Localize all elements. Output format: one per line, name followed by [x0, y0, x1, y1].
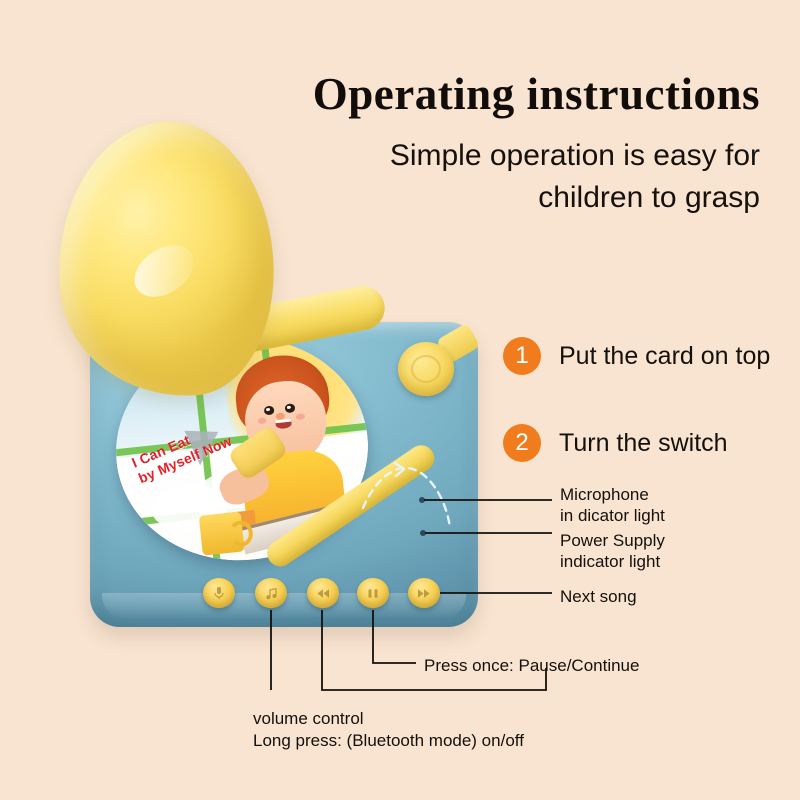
callout-next-song-line1: Next song	[560, 586, 637, 607]
page-subtitle-line1: Simple operation is easy for	[390, 139, 760, 172]
next-song-button[interactable]	[408, 578, 440, 608]
callout-volume-line2: Long press: (Bluetooth mode) on/off	[253, 730, 524, 752]
page-subtitle-line2: children to grasp	[0, 177, 760, 219]
tonearm-pivot-knob[interactable]	[398, 342, 454, 396]
callout-microphone: Microphone in dicator light	[560, 484, 665, 526]
previous-song-button[interactable]	[307, 578, 339, 608]
page-subtitle: Simple operation is easy for children to…	[0, 135, 760, 219]
music-note-icon	[265, 587, 278, 600]
callout-power-line2: indicator light	[560, 551, 665, 572]
step-1-label: Put the card on top	[559, 342, 770, 371]
step-2: 2 Turn the switch	[503, 424, 728, 462]
callout-volume-line1: volume control	[253, 708, 524, 730]
callout-pause: Press once: Pause/Continue	[424, 655, 639, 676]
mode-button[interactable]	[255, 578, 287, 608]
card-cup	[198, 512, 244, 556]
next-icon	[417, 588, 431, 599]
infographic-page: I Can Eat by Myself Now 70	[0, 0, 800, 800]
boy-eye-right	[284, 403, 295, 413]
step-1-badge: 1	[503, 337, 541, 375]
step-2-label: Turn the switch	[559, 429, 728, 458]
gramophone-toy-illustration: I Can Eat by Myself Now 70	[0, 0, 800, 800]
callout-pause-line1: Press once: Pause/Continue	[424, 655, 639, 676]
previous-icon	[316, 588, 330, 599]
dashed-arrow-icon	[355, 462, 460, 537]
page-title: Operating instructions	[0, 68, 760, 120]
microphone-icon	[213, 586, 225, 600]
callout-volume: volume control Long press: (Bluetooth mo…	[253, 708, 524, 752]
callout-microphone-line2: in dicator light	[560, 505, 665, 526]
boy-cheek-right	[295, 413, 304, 420]
microphone-button[interactable]	[203, 578, 235, 608]
callout-next-song: Next song	[560, 586, 637, 607]
callout-power-line1: Power Supply	[560, 530, 665, 551]
play-pause-icon	[367, 588, 379, 599]
boy-mouth	[275, 419, 292, 430]
step-2-badge: 2	[503, 424, 541, 462]
callout-power-supply: Power Supply indicator light	[560, 530, 665, 572]
play-pause-button[interactable]	[357, 578, 389, 608]
step-1: 1 Put the card on top	[503, 337, 770, 375]
callout-microphone-line1: Microphone	[560, 484, 665, 505]
